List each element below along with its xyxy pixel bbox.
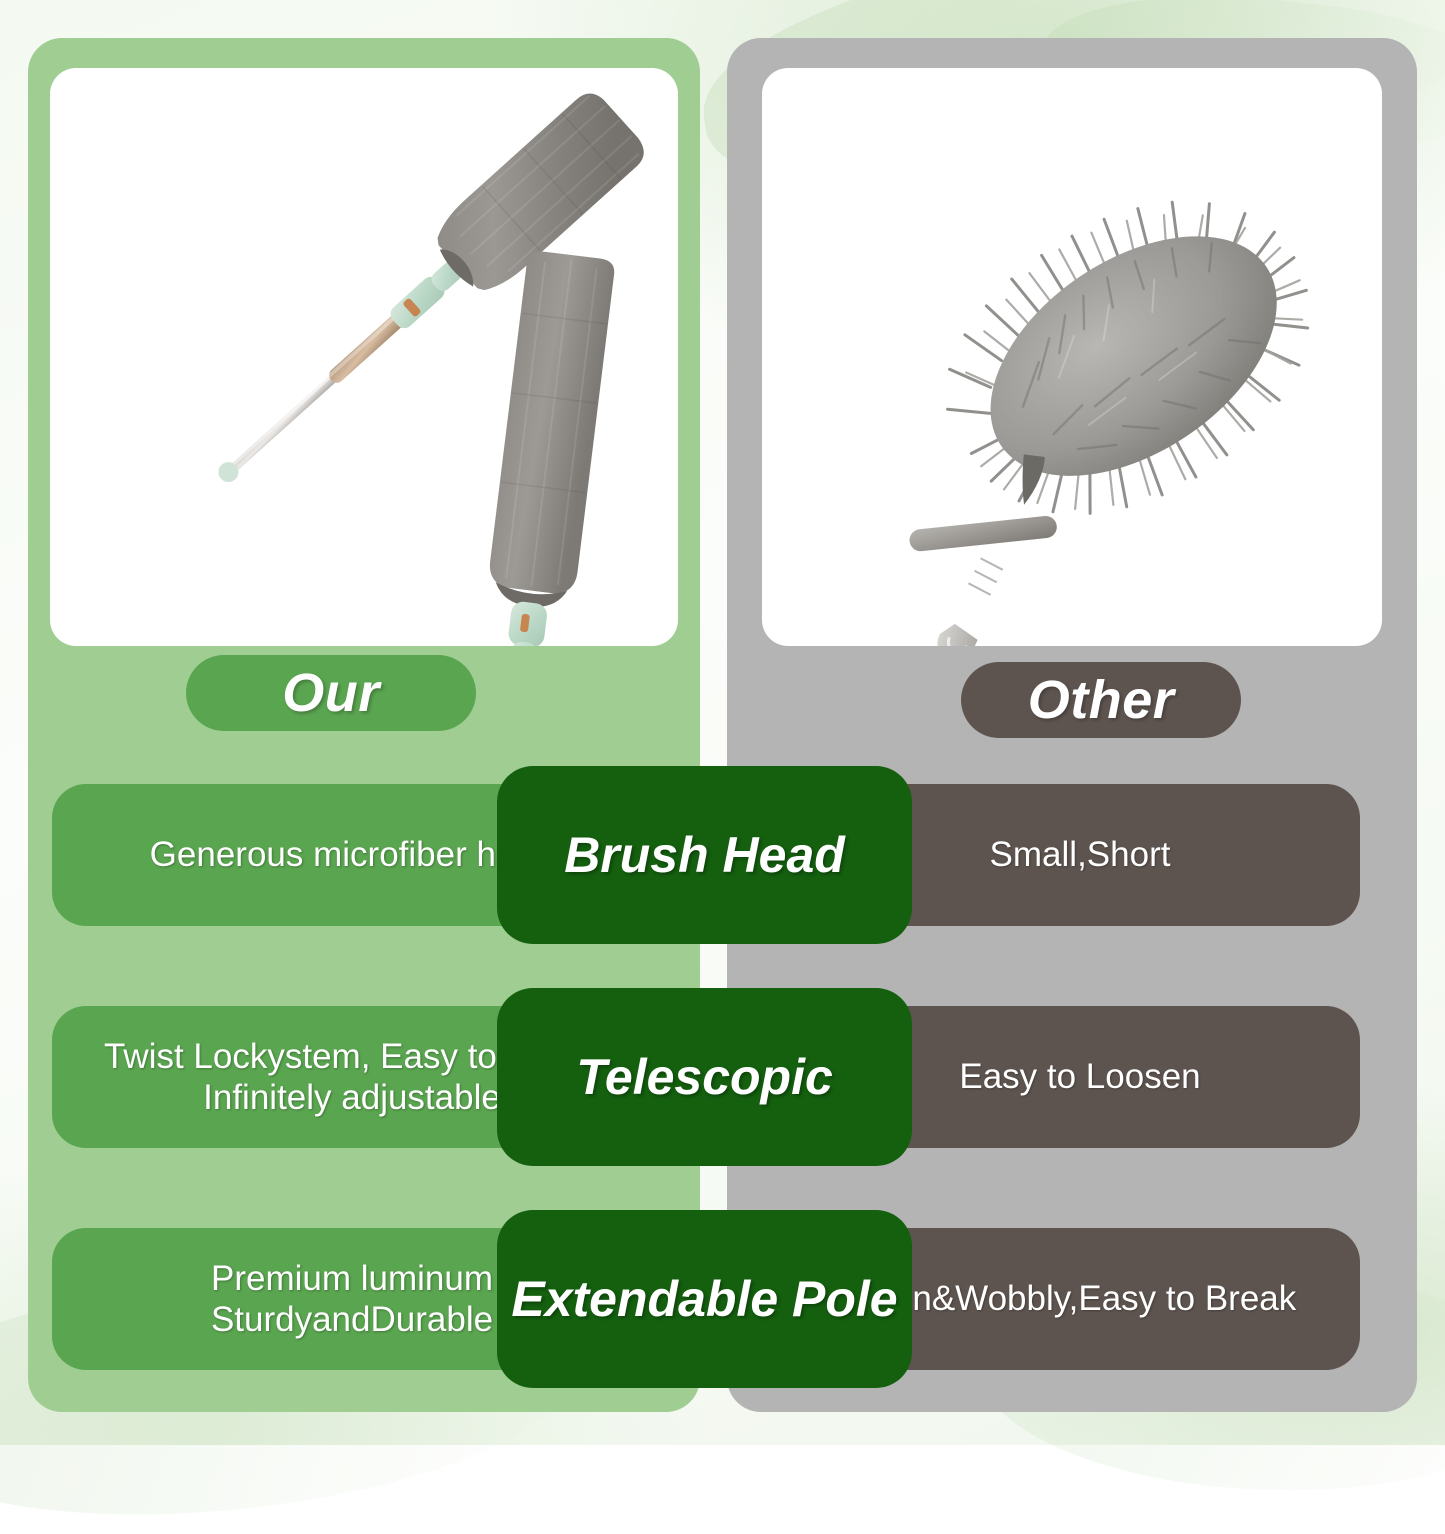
round-duster-illustration [762, 68, 1382, 646]
fluffy-duster [787, 139, 1377, 646]
our-product-image-card [50, 68, 678, 646]
other-product-image-card [762, 68, 1382, 646]
other-product-photo [762, 68, 1382, 646]
gap-duster-illustration [50, 68, 678, 646]
feature-label-badge: Brush Head [497, 766, 912, 944]
short-duster [476, 250, 616, 646]
other-header-pill: Other [961, 662, 1241, 738]
feature-label-badge: Telescopic [497, 988, 912, 1166]
our-product-photo [50, 68, 678, 646]
comparison-infographic: Our [0, 0, 1445, 1445]
our-header-pill: Our [186, 655, 476, 731]
feature-label-badge: Extendable Pole [497, 1210, 912, 1388]
